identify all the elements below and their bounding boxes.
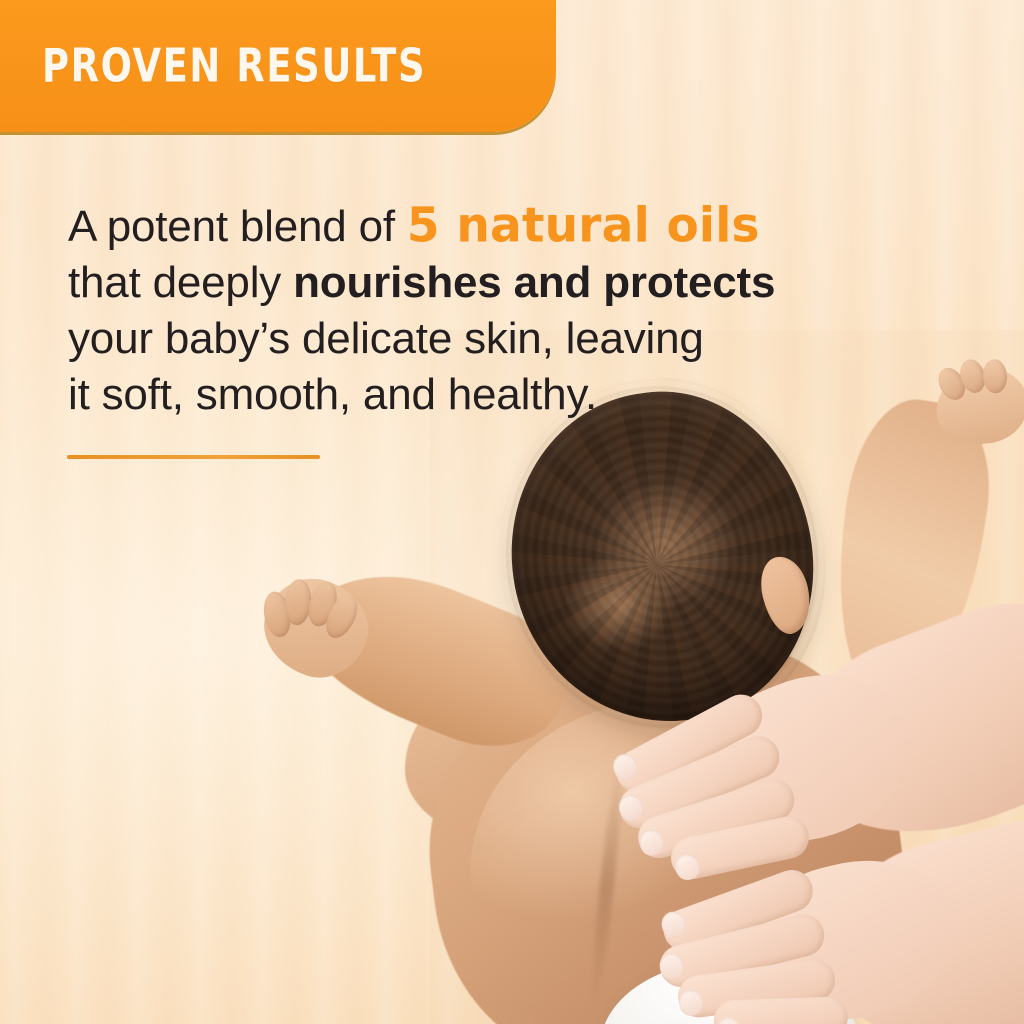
poster-canvas: PROVEN RESULTS A potent blend of 5 natur… xyxy=(0,0,1024,1024)
headline-line-1-plain: A potent blend of xyxy=(68,202,407,251)
banner-title: PROVEN RESULTS xyxy=(42,39,426,93)
headline-line-2: that deeply nourishes and protects xyxy=(68,255,758,311)
headline-line-2-bold: nourishes and protects xyxy=(293,258,775,307)
headline-highlight: 5 natural oils xyxy=(407,197,760,254)
headline-line-1: A potent blend of 5 natural oils xyxy=(68,198,758,255)
baby-massage-photo xyxy=(0,0,1024,1024)
headline-copy: A potent blend of 5 natural oils that de… xyxy=(68,198,758,423)
baby-finger xyxy=(284,578,313,626)
header-banner: PROVEN RESULTS xyxy=(0,0,556,132)
headline-line-3: your baby’s delicate skin, leaving xyxy=(68,311,758,367)
headline-line-2-plain: that deeply xyxy=(68,258,293,307)
headline-divider xyxy=(67,455,320,459)
headline-line-4: it soft, smooth, and healthy. xyxy=(68,367,758,423)
